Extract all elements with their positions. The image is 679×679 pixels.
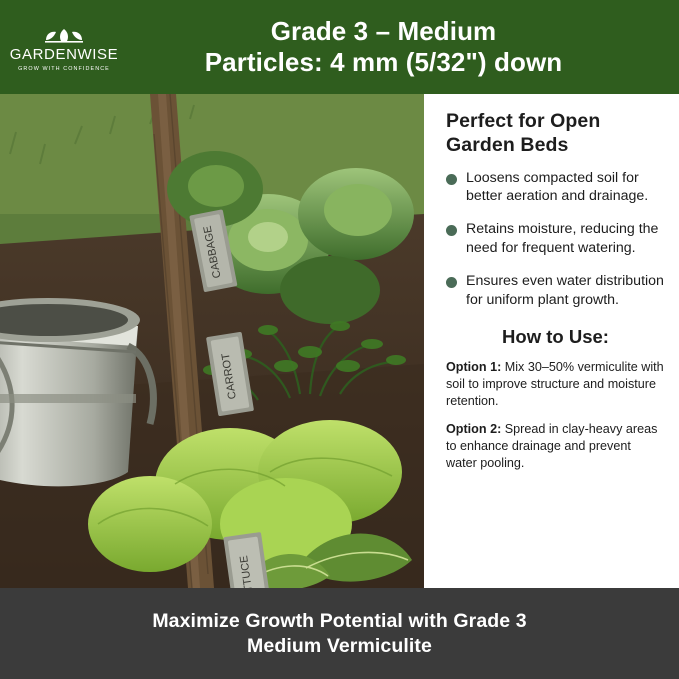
header-banner: GARDENWISE GROW WITH CONFIDENCE Grade 3 … xyxy=(0,0,679,94)
panel-heading-line-2: Garden Beds xyxy=(446,134,568,156)
panel-heading: Perfect for Open Garden Beds xyxy=(446,110,665,158)
brand-name: GARDENWISE xyxy=(10,47,119,62)
bullet-dot-icon xyxy=(446,174,457,185)
benefit-text: Retains moisture, reducing the need for … xyxy=(466,220,665,258)
panel-heading-line-1: Perfect for Open xyxy=(446,110,600,132)
benefit-item: Loosens compacted soil for better aerati… xyxy=(446,169,665,207)
footer-line-2: Medium Vermiculite xyxy=(247,635,432,657)
howto-option: Option 1: Mix 30–50% vermiculite with so… xyxy=(446,359,665,410)
benefit-text: Loosens compacted soil for better aerati… xyxy=(466,169,665,207)
garden-photo-illustration: CABBAGE CARROT LETTUCE xyxy=(0,94,424,588)
footer-banner: Maximize Growth Potential with Grade 3 M… xyxy=(0,588,679,679)
sprout-leaves-icon xyxy=(41,26,87,44)
brand-tagline: GROW WITH CONFIDENCE xyxy=(18,66,110,72)
footer-text: Maximize Growth Potential with Grade 3 M… xyxy=(152,609,526,659)
benefits-panel: Perfect for Open Garden Beds Loosens com… xyxy=(424,94,679,588)
title-line-1: Grade 3 – Medium xyxy=(128,16,639,47)
bullet-dot-icon xyxy=(446,277,457,288)
benefit-text: Ensures even water distribution for unif… xyxy=(466,272,665,310)
footer-line-1: Maximize Growth Potential with Grade 3 xyxy=(152,610,526,632)
howto-title: How to Use: xyxy=(446,326,665,348)
benefit-item: Ensures even water distribution for unif… xyxy=(446,272,665,310)
howto-option-label: Option 1: xyxy=(446,360,501,374)
benefit-item: Retains moisture, reducing the need for … xyxy=(446,220,665,258)
garden-photo: CABBAGE CARROT LETTUCE xyxy=(0,94,424,588)
title-line-2: Particles: 4 mm (5/32") down xyxy=(128,47,639,78)
howto-option-label: Option 2: xyxy=(446,422,501,436)
bullet-dot-icon xyxy=(446,225,457,236)
brand-logo: GARDENWISE GROW WITH CONFIDENCE xyxy=(0,0,128,94)
howto-option: Option 2: Spread in clay-heavy areas to … xyxy=(446,421,665,472)
page-title: Grade 3 – Medium Particles: 4 mm (5/32")… xyxy=(128,16,679,77)
product-infographic: GARDENWISE GROW WITH CONFIDENCE Grade 3 … xyxy=(0,0,679,679)
